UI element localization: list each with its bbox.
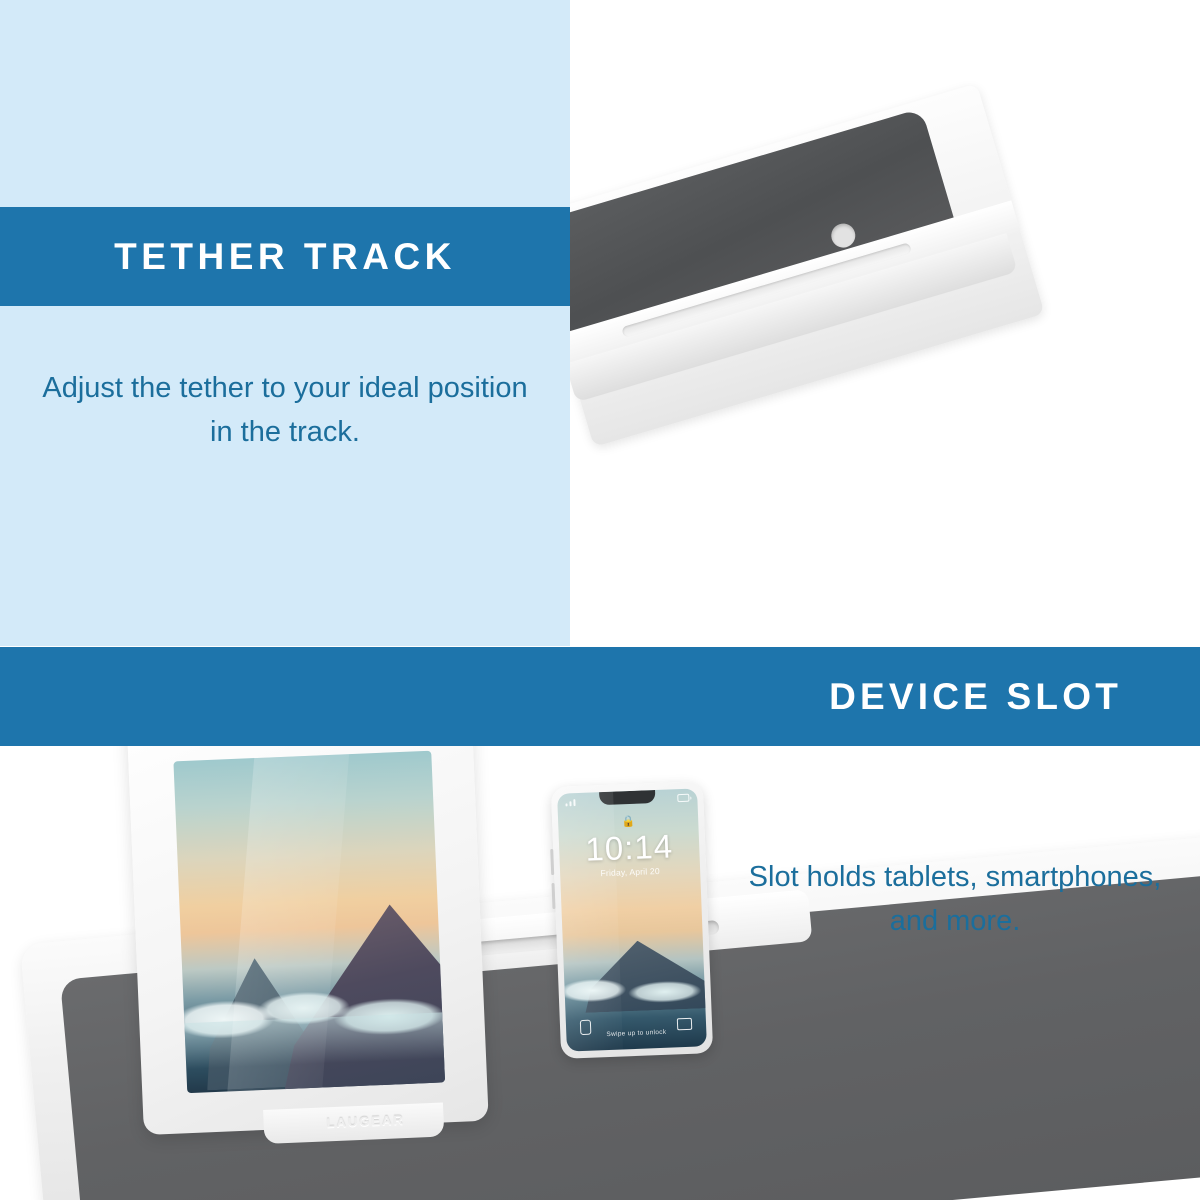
phone-volume-down-button — [552, 883, 556, 909]
smartphone-in-slot: 🔒 10:14 Friday, April 20 Swipe up to unl… — [551, 781, 713, 1059]
phone-volume-up-button — [550, 849, 554, 875]
device-slot-title: DEVICE SLOT — [829, 678, 1122, 715]
battery-icon — [677, 794, 689, 802]
tether-track-text-panel — [0, 0, 570, 646]
phone-screen: 🔒 10:14 Friday, April 20 Swipe up to unl… — [557, 788, 707, 1051]
tablet-in-case: LAUGEAR — [126, 697, 488, 1135]
tether-track-title: TETHER TRACK — [114, 238, 456, 275]
tablet-screen — [173, 751, 445, 1094]
tether-track-banner: TETHER TRACK — [0, 207, 570, 306]
device-slot-body-text: Slot holds tablets, smartphones, and mor… — [735, 855, 1175, 943]
device-slot-banner: DEVICE SLOT — [0, 647, 1200, 746]
infographic-page: TETHER TRACK Adjust the tether to your i… — [0, 0, 1200, 1200]
tether-track-photo — [570, 0, 1200, 647]
device-slot-photo: LAUGEAR 🔒 10:14 Friday, April 20 Swipe u… — [0, 690, 1200, 1200]
phone-screen-glare — [557, 792, 623, 1052]
tablet-enclosure — [570, 83, 1045, 447]
tether-track-body-text: Adjust the tether to your ideal position… — [35, 366, 535, 454]
